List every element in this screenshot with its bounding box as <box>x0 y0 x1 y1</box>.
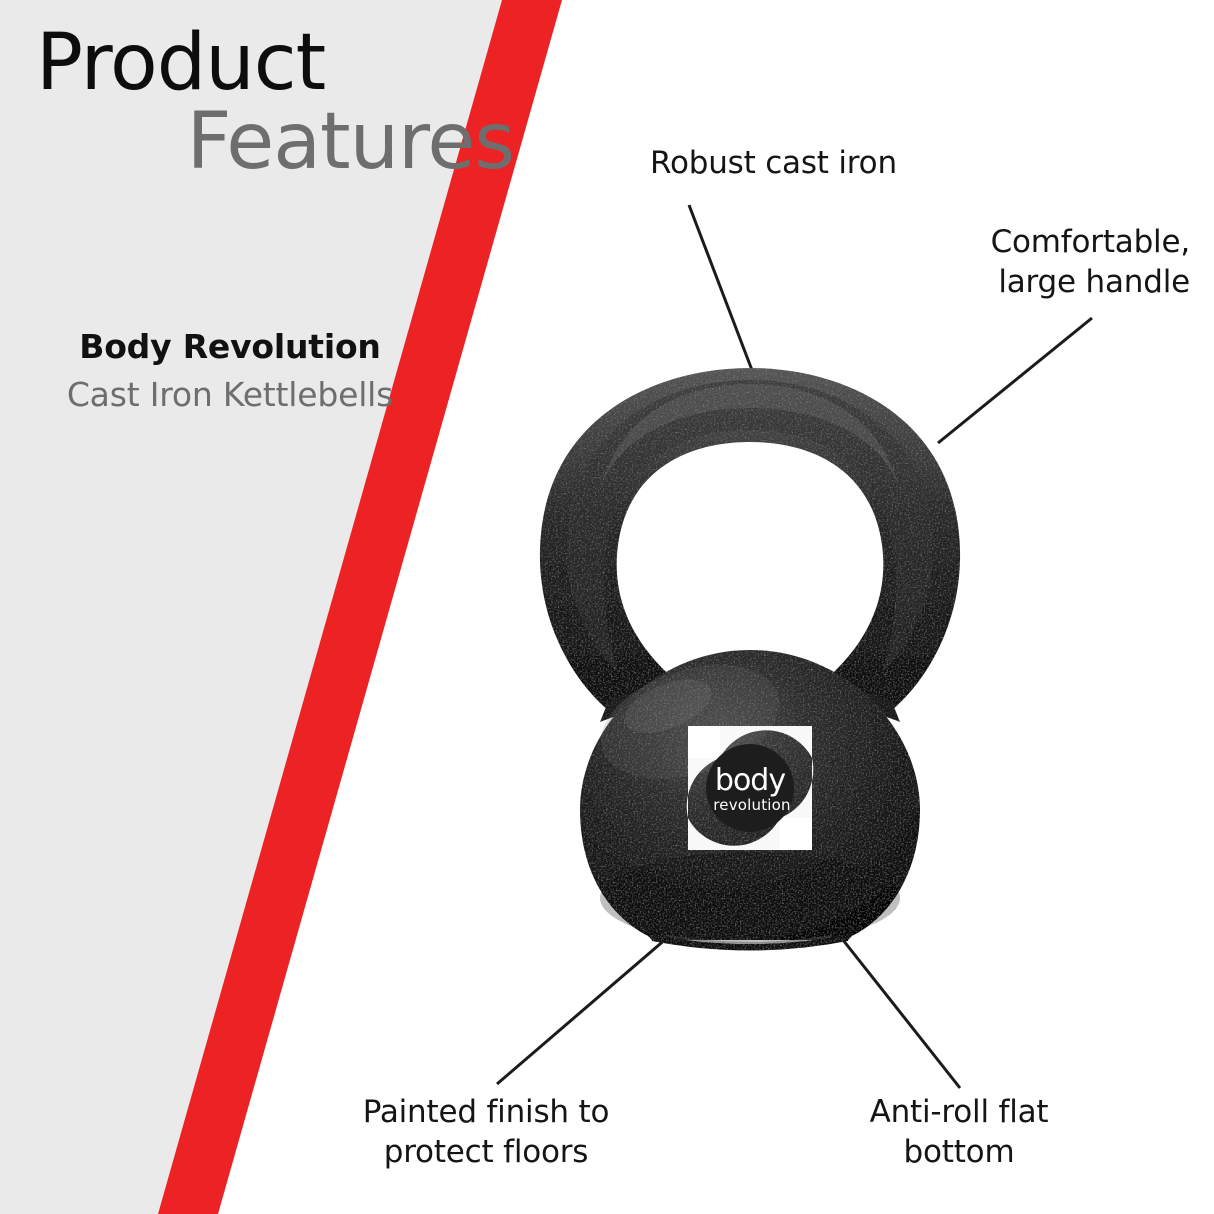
body-shadow-lower <box>600 852 900 944</box>
callout-label-anti-roll: Anti-roll flat bottom <box>834 1092 1084 1173</box>
infographic-canvas: Product Features Body Revolution Cast Ir… <box>0 0 1214 1214</box>
page-title: Product Features <box>0 26 520 180</box>
brand-subtitle: Cast Iron Kettlebells <box>0 374 460 416</box>
page-title-line-1: Product <box>0 26 520 101</box>
logo-word-revolution: revolution <box>713 796 791 814</box>
logo-word-body: body <box>715 763 785 798</box>
callout-label-comfortable-handle: Comfortable, large handle <box>991 222 1190 303</box>
page-title-line-2: Features <box>0 105 520 180</box>
callout-label-robust-cast-iron: Robust cast iron <box>650 143 897 183</box>
brand-name: Body Revolution <box>0 326 460 368</box>
product-image-kettlebell: body revolution <box>500 350 1000 970</box>
callout-label-painted-finish: Painted finish to protect floors <box>336 1092 636 1173</box>
brand-block: Body Revolution Cast Iron Kettlebells <box>0 326 460 416</box>
